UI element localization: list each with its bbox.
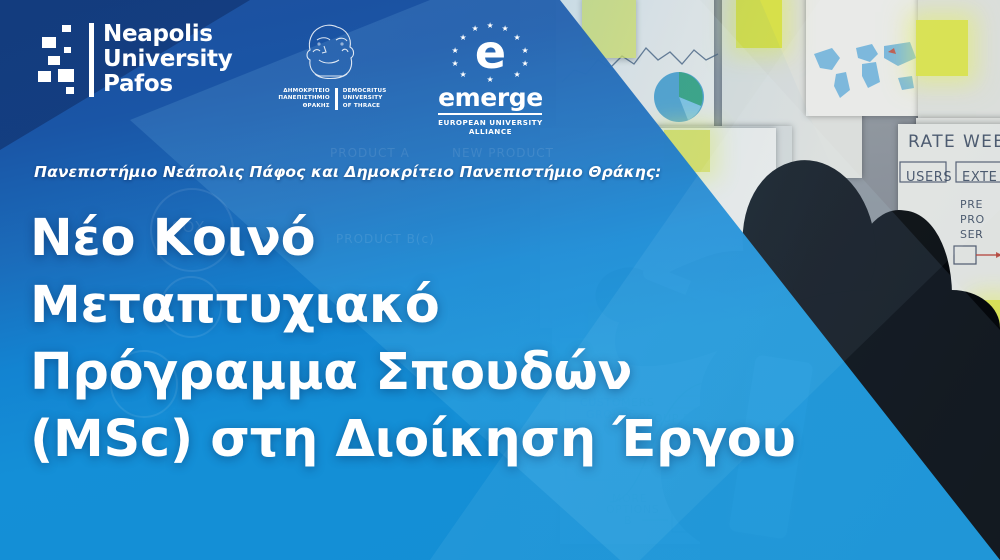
democritus-greek: ΔΗΜΟΚΡΙΤΕΙΟ ΠΑΝΕΠΙΣΤΗΜΙΟ ΘΡΑΚΗΣ xyxy=(278,88,329,110)
neapolis-line-1: Neapolis xyxy=(103,22,232,47)
emerge-tagline: EUROPEAN UNIVERSITY ALLIANCE xyxy=(438,118,543,136)
democritus-greek-line-2: ΠΑΝΕΠΙΣΤΗΜΙΟ xyxy=(278,95,329,102)
headline-line-4: (MSc) στη Διοίκηση Έργου xyxy=(30,406,820,473)
democritus-english-line-3: OF THRACE xyxy=(343,103,387,110)
democritus-english-line-1: DEMOCRITUS xyxy=(343,88,387,95)
democritus-english: DEMOCRITUS UNIVERSITY OF THRACE xyxy=(343,88,387,110)
neapolis-line-3: Pafos xyxy=(103,72,232,97)
logo-row: Neapolis University Pafos xyxy=(36,22,554,136)
banner-subtitle: Πανεπιστήμιο Νεάπολις Πάφος και Δημοκρίτ… xyxy=(34,163,661,181)
emerge-letter-e: e xyxy=(475,29,506,75)
logo-democritus-university: ΔΗΜΟΚΡΙΤΕΙΟ ΠΑΝΕΠΙΣΤΗΜΙΟ ΘΡΑΚΗΣ DEMOCRIT… xyxy=(272,22,392,110)
emerge-wordmark: emerge xyxy=(438,85,543,111)
banner-headline: Νέο Κοινό Μεταπτυχιακό Πρόγραμμα Σπουδών… xyxy=(30,205,820,473)
democritus-greek-line-3: ΘΡΑΚΗΣ xyxy=(278,103,329,110)
headline-line-3: Πρόγραμμα Σπουδών xyxy=(30,339,820,406)
headline-line-2: Μεταπτυχιακό xyxy=(30,272,820,339)
emerge-tagline-line-1: EUROPEAN UNIVERSITY xyxy=(438,118,543,127)
emerge-tagline-line-2: ALLIANCE xyxy=(438,127,543,136)
headline-line-1: Νέο Κοινό xyxy=(30,205,820,272)
neapolis-line-2: University xyxy=(103,47,232,72)
banner-content: Neapolis University Pafos xyxy=(0,0,1000,560)
promo-banner: CUSTOMERS GROUPS MAIN SUB GROUP B SUB GR… xyxy=(0,0,1000,560)
emerge-e-star-icon: e ★ ★ ★ ★ ★ ★ ★ ★ ★ ★ ★ ★ xyxy=(444,22,536,84)
neapolis-pixel-mark-icon xyxy=(36,23,80,97)
democritus-wordmark: ΔΗΜΟΚΡΙΤΕΙΟ ΠΑΝΕΠΙΣΤΗΜΙΟ ΘΡΑΚΗΣ DEMOCRIT… xyxy=(278,88,386,110)
logo-emerge-alliance: e ★ ★ ★ ★ ★ ★ ★ ★ ★ ★ ★ ★ emerge EU xyxy=(426,22,554,136)
emerge-rule xyxy=(438,113,542,115)
neapolis-wordmark: Neapolis University Pafos xyxy=(103,22,232,97)
democritus-divider xyxy=(335,88,338,110)
democritus-english-line-2: UNIVERSITY xyxy=(343,95,387,102)
democritus-greek-line-1: ΔΗΜΟΚΡΙΤΕΙΟ xyxy=(278,88,329,95)
democritus-bust-icon xyxy=(295,22,369,84)
neapolis-divider xyxy=(89,23,94,97)
logo-neapolis-university-pafos: Neapolis University Pafos xyxy=(36,22,232,97)
